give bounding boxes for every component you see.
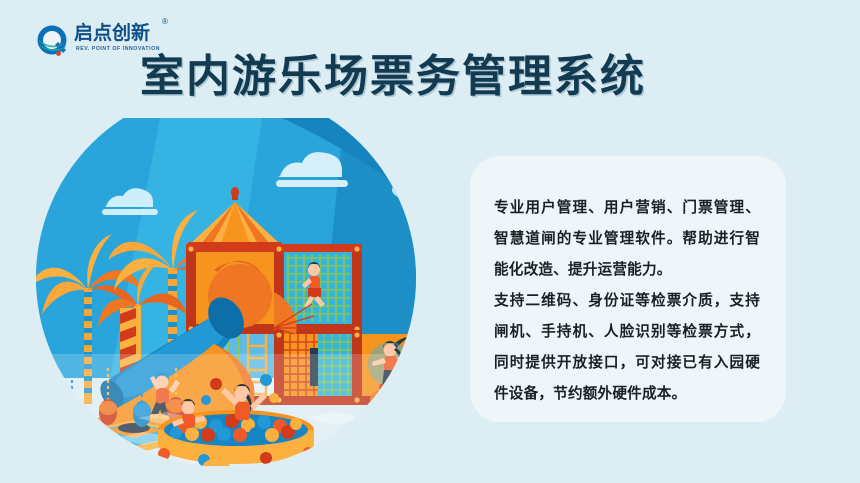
description-paragraph-1: 专业用户管理、用户营销、门票管理、智慧道闸的专业管理软件。帮助进行智能化改造、提… [494, 192, 760, 285]
slide-canvas: 启点创新 ® REV. POINT OF INNOVATION 室内游乐场票务管… [0, 0, 860, 483]
q-circle-logo-icon [36, 24, 70, 58]
description-panel: 专业用户管理、用户营销、门票管理、智慧道闸的专业管理软件。帮助进行智能化改造、提… [470, 156, 786, 422]
page-title: 室内游乐场票务管理系统 [140, 50, 646, 104]
registered-mark-icon: ® [162, 18, 168, 26]
indoor-playground-illustration [18, 118, 466, 466]
description-paragraph-2: 支持二维码、身份证等检票介质，支持闸机、手持机、人脸识别等检票方式，同时提供开放… [494, 285, 760, 409]
brand-name-cn: 启点创新 [74, 23, 150, 45]
